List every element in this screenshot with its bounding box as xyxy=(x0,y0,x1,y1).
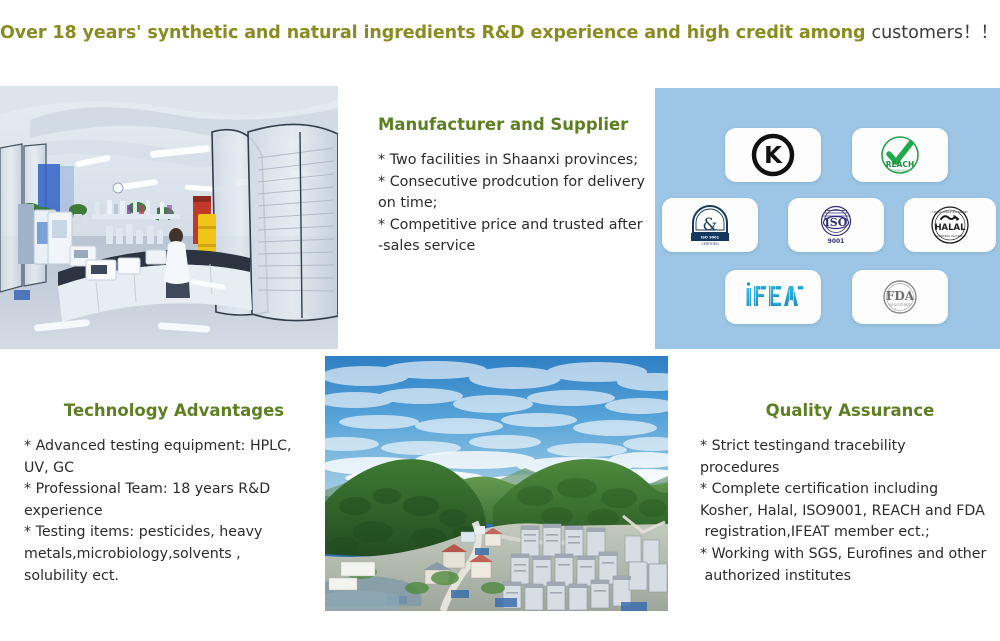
halal-badge: HALAL CENTRAL ISLAMIC HALAL CERTIFIED BR… xyxy=(904,198,996,252)
laboratory-photo xyxy=(0,86,338,349)
manufacturer-line: -sales service xyxy=(378,236,650,258)
svg-text:K: K xyxy=(764,143,783,169)
fda-icon: FDA REGISTERED xyxy=(878,275,922,319)
halal-icon: HALAL CENTRAL ISLAMIC HALAL CERTIFIED BR… xyxy=(928,203,972,247)
kosher-icon: K xyxy=(750,132,796,178)
quality-line: * Complete certification including xyxy=(700,479,1000,501)
technology-title: Technology Advantages xyxy=(24,400,324,422)
page-title: Over 18 years' synthetic and natural ing… xyxy=(0,22,1000,44)
headline-main: Over 18 years' synthetic and natural ing… xyxy=(0,23,871,43)
quality-title: Quality Assurance xyxy=(700,400,1000,422)
svg-text:REGISTERED: REGISTERED xyxy=(889,303,911,307)
manufacturer-line: * Two facilities in Shaanxi provinces; xyxy=(378,150,650,172)
quality-line: * Working with SGS, Eurofines and other xyxy=(700,544,1000,566)
manufacturer-title: Manufacturer and Supplier xyxy=(378,114,650,136)
technology-section: Technology Advantages * Advanced testing… xyxy=(24,400,324,587)
fda-badge: FDA REGISTERED xyxy=(852,270,948,324)
sgs-badge: & ISO 9001 CERTIFIED xyxy=(662,198,758,252)
reach-badge: REACH COMPLIANT xyxy=(852,128,948,182)
town-aerial-graphic xyxy=(325,356,668,611)
svg-text:CENTRAL ISLAMIC: CENTRAL ISLAMIC xyxy=(937,234,964,238)
quality-line: Kosher, Halal, ISO9001, REACH and FDA xyxy=(700,501,1000,523)
quality-body: * Strict testingand tracebility procedur… xyxy=(700,436,1000,587)
promo-banner: Over 18 years' synthetic and natural ing… xyxy=(0,0,1000,641)
technology-line: experience xyxy=(24,501,324,523)
svg-text:ISO 9001: ISO 9001 xyxy=(701,235,720,239)
technology-line: * Testing items: pesticides, heavy xyxy=(24,522,324,544)
quality-line: procedures xyxy=(700,458,1000,480)
technology-body: * Advanced testing equipment: HPLC, UV, … xyxy=(24,436,324,587)
technology-line: UV, GC xyxy=(24,458,324,480)
svg-text:HALAL CERTIFIED BRAND: HALAL CERTIFIED BRAND xyxy=(932,210,967,214)
technology-line: * Professional Team: 18 years R&D xyxy=(24,479,324,501)
manufacturer-body: * Two facilities in Shaanxi provinces; *… xyxy=(378,150,650,258)
manufacturer-line: * Consecutive prodcution for delivery xyxy=(378,172,650,194)
sgs-seal-icon: & ISO 9001 CERTIFIED xyxy=(686,203,734,247)
iso-9001-icon: ISO 9001 xyxy=(813,202,859,248)
quality-section: Quality Assurance * Strict testingand tr… xyxy=(700,400,1000,587)
svg-text:COMPLIANT: COMPLIANT xyxy=(891,169,910,173)
manufacturer-section: Manufacturer and Supplier * Two faciliti… xyxy=(378,114,650,258)
svg-text:&: & xyxy=(702,215,717,235)
ifeat-icon xyxy=(743,280,803,314)
reach-icon: REACH COMPLIANT xyxy=(877,132,923,178)
quality-line: authorized institutes xyxy=(700,566,1000,588)
certification-panel: K REACH COMPLIANT & ISO 9001 CERTIFIED xyxy=(655,88,1000,349)
svg-text:ISO: ISO xyxy=(825,216,848,229)
town-aerial-photo xyxy=(325,356,668,611)
manufacturer-line: on time; xyxy=(378,193,650,215)
headline-tail: customers！！！ xyxy=(871,23,1000,43)
kosher-badge: K xyxy=(725,128,821,182)
technology-line: * Advanced testing equipment: HPLC, xyxy=(24,436,324,458)
quality-line: * Strict testingand tracebility xyxy=(700,436,1000,458)
quality-line: registration,IFEAT member ect.; xyxy=(700,522,1000,544)
manufacturer-line: * Competitive price and trusted after xyxy=(378,215,650,237)
svg-text:CERTIFIED: CERTIFIED xyxy=(701,242,719,246)
svg-text:REACH: REACH xyxy=(886,160,914,169)
technology-line: metals,microbiology,solvents , xyxy=(24,544,324,566)
svg-text:HALAL: HALAL xyxy=(934,223,966,233)
ifeat-badge xyxy=(725,270,821,324)
laboratory-photo-graphic xyxy=(0,86,338,349)
svg-text:9001: 9001 xyxy=(828,238,845,245)
svg-text:FDA: FDA xyxy=(886,289,915,303)
iso-badge: ISO 9001 xyxy=(788,198,884,252)
technology-line: solubility ect. xyxy=(24,566,324,588)
